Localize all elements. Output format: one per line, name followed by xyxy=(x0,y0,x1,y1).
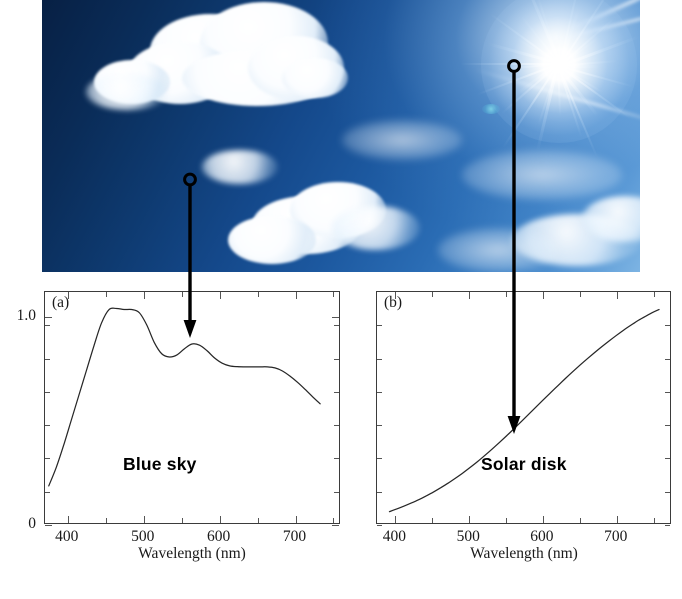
xtick-top-450 xyxy=(106,292,107,297)
chart-panel-blue-sky: (a) Blue sky xyxy=(44,291,340,524)
panel-a-xaxis-title: Wavelength (nm) xyxy=(138,545,246,563)
ytick-0 xyxy=(377,525,382,526)
xtick-top-750 xyxy=(654,292,655,297)
cloud-16 xyxy=(438,228,558,272)
ytick-0.96 xyxy=(45,325,50,326)
ytick-0.32 xyxy=(45,458,50,459)
xtick-top-700 xyxy=(296,292,297,299)
xtick-top-500 xyxy=(469,292,470,299)
xtick-label-400: 400 xyxy=(55,528,78,546)
xtick-400 xyxy=(68,516,69,523)
ytick-0.64 xyxy=(45,392,50,393)
cloud-17 xyxy=(462,150,622,200)
xtick-label-500: 500 xyxy=(457,528,480,546)
xtick-top-500 xyxy=(144,292,145,299)
ytick-right-0.8 xyxy=(665,359,670,360)
xtick-top-550 xyxy=(506,292,507,297)
cloud-12 xyxy=(332,206,420,250)
xtick-top-700 xyxy=(617,292,618,299)
xtick-top-400 xyxy=(68,292,69,299)
xtick-label-700: 700 xyxy=(604,528,627,546)
ytick-0 xyxy=(45,525,52,526)
ytick-right-0.64 xyxy=(334,392,339,393)
xtick-label-500: 500 xyxy=(131,528,154,546)
ytick-0.48 xyxy=(45,425,50,426)
xtick-750 xyxy=(654,518,655,523)
ytick-label-0: 0 xyxy=(0,515,36,533)
ytick-0.32 xyxy=(377,458,382,459)
ytick-right-1 xyxy=(332,317,339,318)
ytick-right-0.96 xyxy=(665,325,670,326)
xtick-top-450 xyxy=(432,292,433,297)
ytick-right-0.32 xyxy=(665,458,670,459)
ytick-right-0.16 xyxy=(334,492,339,493)
ytick-1 xyxy=(45,317,52,318)
xtick-600 xyxy=(220,516,221,523)
ytick-right-0 xyxy=(665,525,670,526)
ytick-right-0.8 xyxy=(334,359,339,360)
xtick-top-550 xyxy=(182,292,183,297)
cloud-18 xyxy=(342,120,462,160)
ytick-right-0.48 xyxy=(334,425,339,426)
ytick-right-0.16 xyxy=(665,492,670,493)
ytick-right-0 xyxy=(332,525,339,526)
ytick-0.96 xyxy=(377,325,382,326)
xtick-600 xyxy=(543,516,544,523)
chart-panel-solar-disk: (b) Solar disk xyxy=(376,291,671,524)
sky-photograph xyxy=(42,0,640,272)
xtick-top-650 xyxy=(580,292,581,297)
solar-disk-spectrum-curve xyxy=(377,292,670,523)
xtick-top-400 xyxy=(395,292,396,299)
lens-flare-dot xyxy=(482,104,500,114)
xtick-700 xyxy=(617,516,618,523)
xtick-650 xyxy=(258,518,259,523)
xtick-top-750 xyxy=(333,292,334,297)
xtick-500 xyxy=(144,516,145,523)
xtick-550 xyxy=(182,518,183,523)
panel-b-xaxis-title: Wavelength (nm) xyxy=(470,545,578,563)
ytick-0.8 xyxy=(45,359,50,360)
ytick-right-0.48 xyxy=(665,425,670,426)
xtick-450 xyxy=(432,518,433,523)
xtick-top-650 xyxy=(258,292,259,297)
xtick-450 xyxy=(106,518,107,523)
cloud-8 xyxy=(282,58,348,98)
ytick-0.48 xyxy=(377,425,382,426)
ytick-right-0.96 xyxy=(334,325,339,326)
blue-sky-spectrum-curve xyxy=(45,292,339,523)
blue-sky-label: Blue sky xyxy=(123,454,197,475)
xtick-700 xyxy=(296,516,297,523)
ytick-right-0.32 xyxy=(334,458,339,459)
cloud-13 xyxy=(202,150,278,184)
xtick-top-600 xyxy=(220,292,221,299)
xtick-650 xyxy=(580,518,581,523)
ytick-0.16 xyxy=(45,492,50,493)
solar-disk-label: Solar disk xyxy=(481,454,567,475)
xtick-label-400: 400 xyxy=(383,528,406,546)
ytick-0.64 xyxy=(377,392,382,393)
ytick-0.8 xyxy=(377,359,382,360)
xtick-label-700: 700 xyxy=(283,528,306,546)
ytick-0.16 xyxy=(377,492,382,493)
xtick-label-600: 600 xyxy=(530,528,553,546)
ytick-label-1.0: 1.0 xyxy=(0,307,36,325)
xtick-400 xyxy=(395,516,396,523)
cloud-11 xyxy=(228,216,316,264)
xtick-750 xyxy=(333,518,334,523)
xtick-top-600 xyxy=(543,292,544,299)
ytick-right-0.64 xyxy=(665,392,670,393)
cloud-7 xyxy=(86,74,168,110)
xtick-500 xyxy=(469,516,470,523)
xtick-550 xyxy=(506,518,507,523)
xtick-label-600: 600 xyxy=(207,528,230,546)
